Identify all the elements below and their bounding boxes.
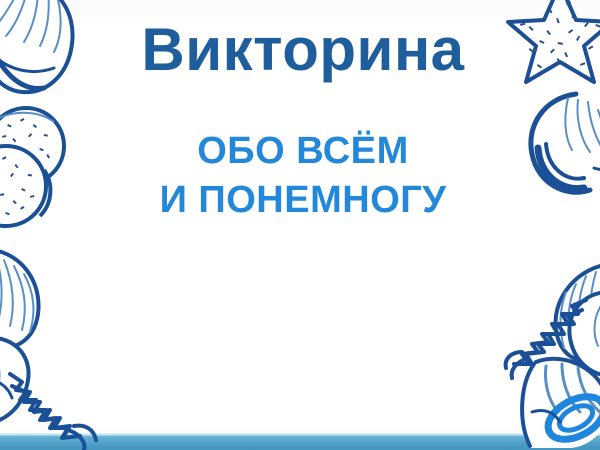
slide-text-block: Викторина ОБО ВСЁМ И ПОНЕМНОГУ xyxy=(78,16,528,224)
scallop-shell-top-left-icon xyxy=(0,0,80,102)
bottom-band-fill xyxy=(0,436,600,450)
fan-shell-right-icon xyxy=(534,262,600,366)
bottom-accent-band xyxy=(0,433,600,450)
quiz-title-slide: Викторина ОБО ВСЁМ И ПОНЕМНОГУ xyxy=(0,0,600,450)
spiral-shell-right-icon xyxy=(524,92,600,198)
subtitle-line-2: И ПОНЕМНОГУ xyxy=(78,176,528,225)
coral-bottom-right-icon xyxy=(506,286,600,396)
crab-bottom-left-icon xyxy=(0,330,98,450)
slide-subtitle: ОБО ВСЁМ И ПОНЕМНОГУ xyxy=(78,127,528,224)
fan-shell-left-icon xyxy=(0,246,60,352)
page-title: Викторина xyxy=(78,16,528,83)
sand-dollar-lower-icon xyxy=(0,140,62,228)
sand-dollar-upper-icon xyxy=(0,104,70,188)
subtitle-line-1: ОБО ВСЁМ xyxy=(197,130,409,172)
